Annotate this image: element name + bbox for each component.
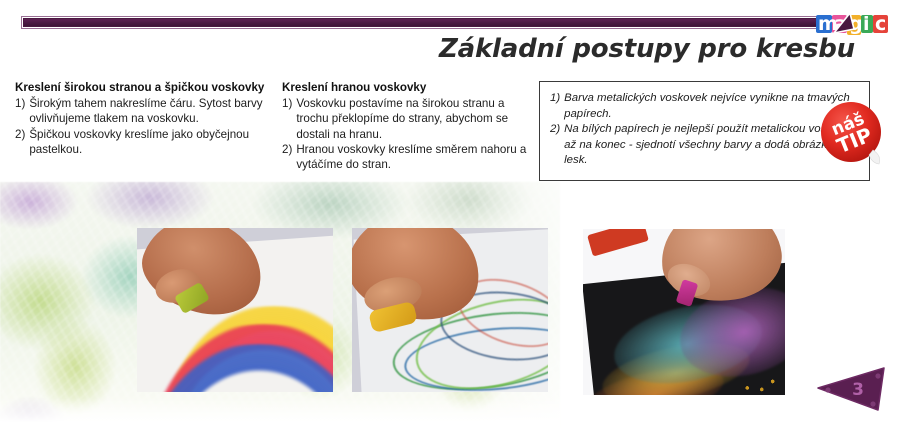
svg-text:c: c bbox=[875, 13, 886, 35]
page-canvas: m a g i c Základní postupy pro kresbu Kr… bbox=[0, 0, 899, 428]
step-text: Širokým tahem nakreslíme čáru. Sytost ba… bbox=[29, 96, 273, 126]
list-item: 1) Širokým tahem nakreslíme čáru. Sytost… bbox=[15, 96, 273, 126]
list-item: 1) Barva metalických voskovek nejvíce vy… bbox=[550, 91, 859, 122]
list-item: 2) Hranou voskovky kreslíme směrem nahor… bbox=[282, 142, 532, 172]
page-title: Základní postupy pro kresbu bbox=[0, 34, 855, 64]
instruction-column-edge: Kreslení hranou voskovky 1) Voskovku pos… bbox=[282, 80, 532, 172]
column-steps: 1) Voskovku postavíme na širokou stranu … bbox=[282, 96, 532, 172]
column-heading: Kreslení širokou stranou a špičkou vosko… bbox=[15, 80, 273, 95]
list-item: 2) Špičkou voskovky kreslíme jako obyčej… bbox=[15, 127, 273, 157]
step-text: Špičkou voskovky kreslíme jako obyčejnou… bbox=[29, 127, 273, 157]
instruction-column-broad-and-tip: Kreslení širokou stranou a špičkou vosko… bbox=[15, 80, 273, 157]
step-number: 1) bbox=[282, 96, 292, 142]
photo-metallic-on-black bbox=[583, 229, 785, 395]
tip-text: Na bílých papírech je nejlepší použít me… bbox=[564, 122, 859, 169]
column-heading: Kreslení hranou voskovky bbox=[282, 80, 532, 95]
nas-tip-sticker: náš TIP bbox=[816, 98, 888, 170]
tip-number: 1) bbox=[550, 91, 560, 122]
column-steps: 1) Širokým tahem nakreslíme čáru. Sytost… bbox=[15, 96, 273, 157]
step-text: Voskovku postavíme na širokou stranu a t… bbox=[296, 96, 532, 142]
list-item: 2) Na bílých papírech je nejlepší použít… bbox=[550, 122, 859, 169]
page-number-badge: 3 bbox=[812, 366, 896, 422]
tip-number: 2) bbox=[550, 122, 560, 169]
step-number: 2) bbox=[282, 142, 292, 172]
photo-broad-side-rainbow bbox=[137, 228, 333, 392]
step-number: 1) bbox=[15, 96, 25, 126]
photo-edge-swirls bbox=[352, 228, 548, 392]
list-item: 1) Voskovku postavíme na širokou stranu … bbox=[282, 96, 532, 142]
step-number: 2) bbox=[15, 127, 25, 157]
red-crayon-corner bbox=[587, 229, 649, 257]
step-text: Hranou voskovky kreslíme směrem nahoru a… bbox=[296, 142, 532, 172]
background-fade-bottom bbox=[0, 398, 560, 428]
page-number-text: 3 bbox=[852, 380, 864, 400]
header-rule-bar-inner bbox=[24, 19, 874, 26]
tip-text: Barva metalických voskovek nejvíce vynik… bbox=[564, 91, 859, 122]
svg-text:i: i bbox=[863, 13, 870, 35]
header-rule-bar bbox=[21, 16, 877, 29]
